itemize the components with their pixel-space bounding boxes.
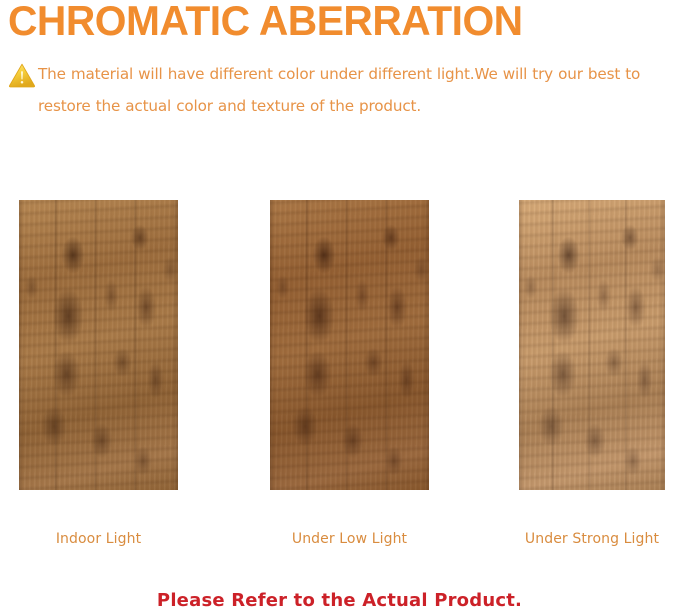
swatch-caption-indoor-light: Indoor Light [19, 531, 178, 547]
swatch-image-indoor-light [19, 200, 178, 490]
footer-disclaimer: Please Refer to the Actual Product. [0, 590, 679, 611]
swatch-caption-strong-light: Under Strong Light [519, 531, 665, 547]
warning-triangle-icon [8, 62, 36, 88]
wood-texture [519, 200, 665, 490]
wood-texture [19, 200, 178, 490]
swatch-image-low-light [270, 200, 429, 490]
notice-text: The material will have different color u… [38, 58, 679, 122]
page-title: CHROMATIC ABERRATION [8, 0, 523, 44]
color-swatch-row [0, 200, 679, 490]
swatch-image-strong-light [519, 200, 665, 490]
swatch-caption-low-light: Under Low Light [270, 531, 429, 547]
wood-texture [270, 200, 429, 490]
